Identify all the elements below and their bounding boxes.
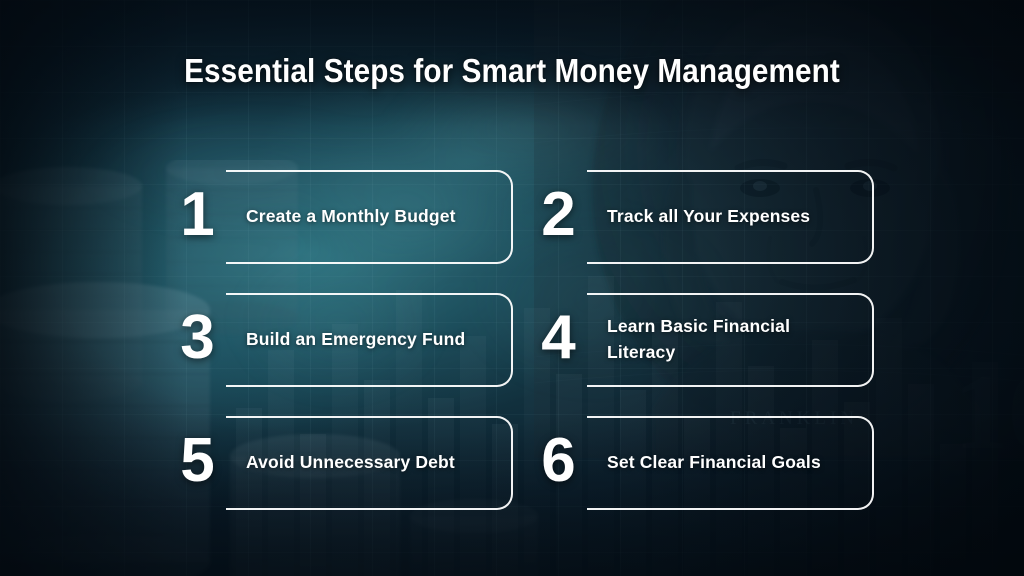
step-card-2[interactable]: Track all Your Expenses <box>587 170 874 264</box>
infographic-content: Essential Steps for Smart Money Manageme… <box>0 0 1024 576</box>
step-label-1: Create a Monthly Budget <box>246 204 456 230</box>
step-item-5[interactable]: 5 Avoid Unnecessary Debt <box>168 404 513 522</box>
step-number-2: 2 <box>529 158 587 276</box>
step-item-2[interactable]: 2 Track all Your Expenses <box>529 158 874 276</box>
step-item-4[interactable]: 4 Learn Basic Financial Literacy <box>529 281 874 399</box>
step-item-1[interactable]: 1 Create a Monthly Budget <box>168 158 513 276</box>
page-title: Essential Steps for Smart Money Manageme… <box>51 52 973 90</box>
step-card-6[interactable]: Set Clear Financial Goals <box>587 416 874 510</box>
step-number-3: 3 <box>168 281 226 399</box>
step-label-4: Learn Basic Financial Literacy <box>607 314 854 365</box>
step-label-6: Set Clear Financial Goals <box>607 450 821 476</box>
steps-grid: 1 Create a Monthly Budget 2 Track all Yo… <box>168 158 874 522</box>
step-card-5[interactable]: Avoid Unnecessary Debt <box>226 416 513 510</box>
step-number-6: 6 <box>529 404 587 522</box>
step-label-3: Build an Emergency Fund <box>246 327 465 353</box>
infographic-canvas: FRANKLIN 10 <box>0 0 1024 576</box>
step-card-1[interactable]: Create a Monthly Budget <box>226 170 513 264</box>
step-number-4: 4 <box>529 281 587 399</box>
step-item-6[interactable]: 6 Set Clear Financial Goals <box>529 404 874 522</box>
step-number-5: 5 <box>168 404 226 522</box>
step-item-3[interactable]: 3 Build an Emergency Fund <box>168 281 513 399</box>
step-card-4[interactable]: Learn Basic Financial Literacy <box>587 293 874 387</box>
step-card-3[interactable]: Build an Emergency Fund <box>226 293 513 387</box>
step-label-5: Avoid Unnecessary Debt <box>246 450 455 476</box>
step-number-1: 1 <box>168 158 226 276</box>
step-label-2: Track all Your Expenses <box>607 204 810 230</box>
